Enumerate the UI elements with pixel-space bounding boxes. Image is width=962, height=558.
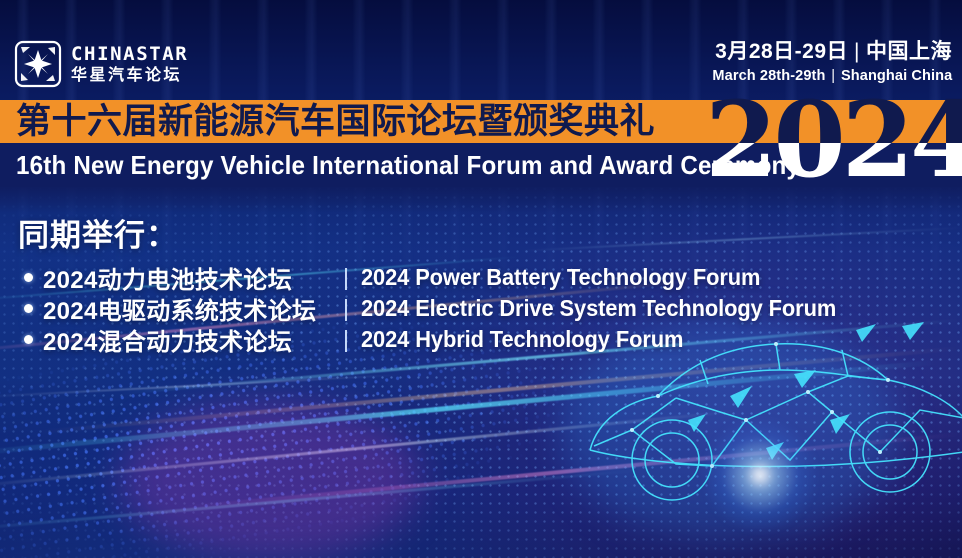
location-english: Shanghai China [841,67,952,84]
forum-name-chinese: 2024动力电池技术论坛 [43,260,331,295]
forum-name-english: 2024 Power Battery Technology Forum [361,264,760,291]
background-glow-magenta [120,400,420,558]
logo-chinese-name: 华星汽车论坛 [71,68,188,84]
list-item: 2024混合动力技术论坛 | 2024 Hybrid Technology Fo… [18,324,861,355]
bullet-icon [24,335,33,344]
event-year-top-half: 2024 [705,92,962,143]
poster-header: CHINASTAR 华星汽车论坛 3月28日-29日|中国上海 March 28… [0,0,962,100]
event-poster: CHINASTAR 华星汽车论坛 3月28日-29日|中国上海 March 28… [0,0,962,558]
program-divider: | [331,264,361,291]
event-date-location: 3月28日-29日|中国上海 March 28th-29th|Shanghai … [705,40,952,84]
bullet-icon [24,273,33,282]
logo-english-name: CHINASTAR [71,45,188,64]
forum-name-chinese: 2024混合动力技术论坛 [43,322,331,357]
event-year-bottom-half: 2024 [705,143,962,195]
program-divider: | [331,295,361,322]
forum-name-english: 2024 Electric Drive System Technology Fo… [361,295,836,322]
event-title-chinese: 第十六届新能源汽车国际论坛暨颁奖典礼 [16,101,655,142]
event-title-english: 16th New Energy Vehicle International Fo… [16,145,800,185]
program-divider: | [331,326,361,353]
brand-logo[interactable]: CHINASTAR 华星汽车论坛 [14,40,188,88]
forum-name-chinese: 2024电驱动系统技术论坛 [43,291,331,326]
chinastar-emblem-icon [14,40,62,88]
location-chinese: 中国上海 [866,40,952,63]
concurrent-program-section: 同期举行： 2024动力电池技术论坛 | 2024 Power Battery … [18,216,861,355]
meta-separator-en: | [825,67,841,84]
event-year: 2024 2024 [705,92,962,195]
program-list: 2024动力电池技术论坛 | 2024 Power Battery Techno… [18,262,861,355]
date-location-english: March 28th-29th|Shanghai China [712,67,952,84]
list-item: 2024电驱动系统技术论坛 | 2024 Electric Drive Syst… [18,293,861,324]
date-chinese: 3月28日-29日 [715,40,848,63]
date-location-chinese: 3月28日-29日|中国上海 [705,40,952,64]
date-english: March 28th-29th [712,67,825,84]
forum-name-english: 2024 Hybrid Technology Forum [361,326,683,353]
list-item: 2024动力电池技术论坛 | 2024 Power Battery Techno… [18,262,861,293]
program-heading: 同期举行： [18,216,861,256]
bullet-icon [24,304,33,313]
meta-separator-cn: | [848,40,866,64]
